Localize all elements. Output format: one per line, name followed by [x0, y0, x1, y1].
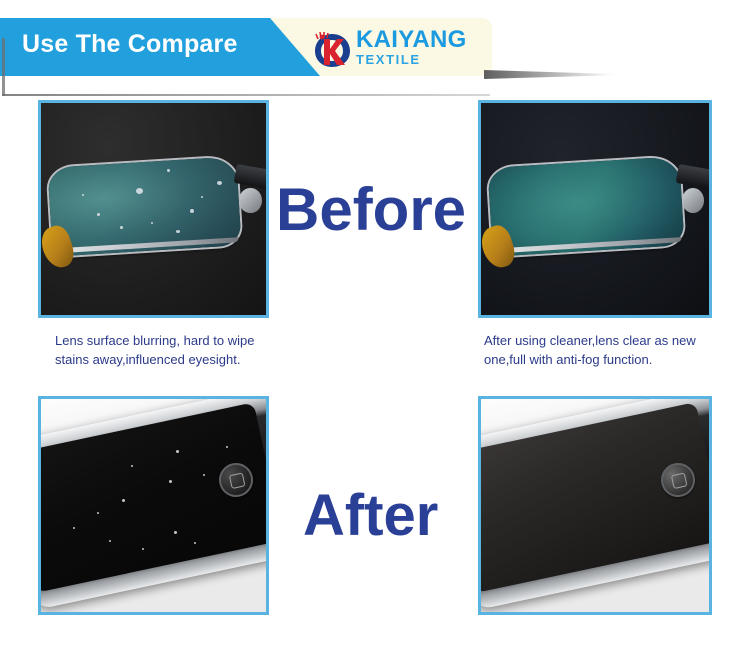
banner-left-tick — [2, 38, 5, 96]
heading-after: After — [303, 487, 438, 545]
dirty-eyeglasses-image — [41, 103, 266, 315]
dust-speck — [174, 531, 177, 534]
dust-speck — [226, 446, 228, 448]
dust-speck — [120, 226, 123, 229]
dust-speck — [109, 540, 111, 542]
clean-eyeglasses-image — [481, 103, 709, 315]
dust-speck — [194, 542, 196, 544]
caption-after-glasses: After using cleaner,lens clear as new on… — [484, 331, 712, 369]
dust-speck — [82, 194, 84, 196]
logo-text: KAIYANG TEXTILE — [356, 28, 467, 68]
dust-speck — [190, 209, 194, 213]
photo-before-phone — [38, 396, 269, 615]
clean-phone-image — [481, 399, 709, 612]
logo-brand-name: KAIYANG — [356, 28, 467, 52]
heading-before: Before — [276, 180, 466, 240]
photo-before-glasses — [38, 100, 269, 318]
temple-hinge — [239, 188, 262, 213]
page-title: Use The Compare — [22, 30, 238, 59]
logo-brand-sub: TEXTILE — [356, 52, 467, 68]
banner-drop-shadow — [484, 70, 614, 79]
photo-after-glasses — [478, 100, 712, 318]
caption-before-glasses: Lens surface blurring, hard to wipe stai… — [55, 331, 270, 369]
photo-after-phone — [478, 396, 712, 615]
brand-logo: KAIYANG TEXTILE — [310, 28, 485, 72]
dust-speck — [203, 474, 205, 476]
kaiyang-emblem-icon — [310, 30, 352, 70]
dust-speck — [73, 527, 75, 529]
banner-baseline — [2, 94, 490, 96]
dust-speck — [136, 188, 143, 194]
dust-speck — [167, 169, 170, 172]
dirty-phone-image — [41, 399, 266, 612]
dust-speck — [131, 465, 133, 467]
